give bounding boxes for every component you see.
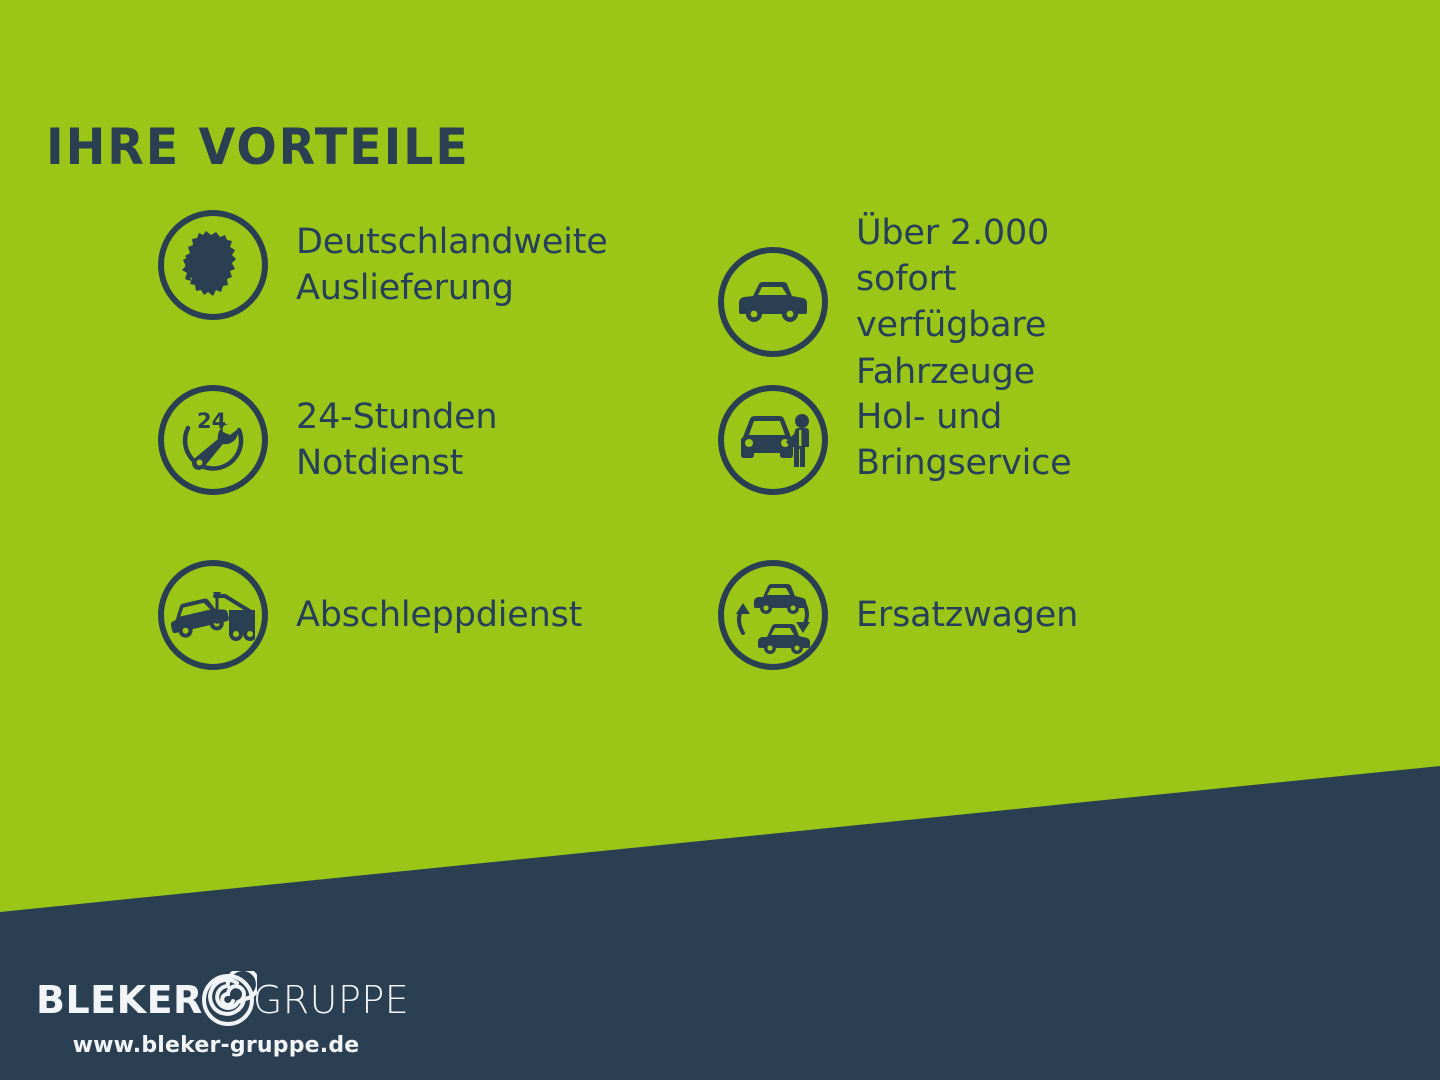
benefit-item-abschleppdienst[interactable]: Abschleppdienst [0, 560, 560, 670]
benefit-label: Abschleppdienst [296, 592, 582, 638]
benefit-item-ersatzwagen[interactable]: Ersatzwagen [560, 560, 1160, 670]
benefit-label: Über 2.000 sofort verfügbare Fahrzeuge [856, 210, 1160, 395]
benefit-item-deutschlandweite-auslieferung[interactable]: Deutschlandweite Auslieferung [0, 210, 560, 320]
spiral-circle-icon [199, 971, 257, 1029]
benefit-label: Hol- und Bringservice [856, 394, 1160, 486]
footer-logo-block[interactable]: BLEKER GRUPPE www.bleker-gruppe.de [36, 977, 456, 1058]
benefits-row: 24 24-Stunden Notdienst [0, 385, 1440, 560]
brand-name-light: GRUPPE [253, 981, 410, 1019]
wrench-24h-icon: 24 [158, 385, 268, 495]
benefits-row: Abschleppdienst [0, 560, 1440, 735]
brand-url[interactable]: www.bleker-gruppe.de [36, 1033, 396, 1058]
tow-truck-icon [158, 560, 268, 670]
brand-name-bold: BLEKER [36, 981, 203, 1019]
car-with-person-icon [718, 385, 828, 495]
car-side-icon [718, 247, 828, 357]
car-exchange-icon [718, 560, 828, 670]
benefit-item-verfuegbare-fahrzeuge[interactable]: Über 2.000 sofort verfügbare Fahrzeuge [560, 210, 1160, 395]
benefits-grid: Deutschlandweite Auslieferung Über 2.000… [0, 210, 1440, 735]
slide-canvas: IHRE VORTEILE Deutschlandweite Ausliefer… [0, 0, 1440, 1080]
page-title: IHRE VORTEILE [46, 122, 470, 172]
benefits-row: Deutschlandweite Auslieferung Über 2.000… [0, 210, 1440, 385]
benefit-item-hol-und-bringservice[interactable]: Hol- und Bringservice [560, 385, 1160, 495]
benefit-label: 24-Stunden Notdienst [296, 394, 497, 486]
benefit-item-24-stunden-notdienst[interactable]: 24 24-Stunden Notdienst [0, 385, 560, 495]
benefit-label: Ersatzwagen [856, 592, 1078, 638]
brand-wordmark: BLEKER GRUPPE [36, 977, 456, 1023]
germany-map-icon [158, 210, 268, 320]
